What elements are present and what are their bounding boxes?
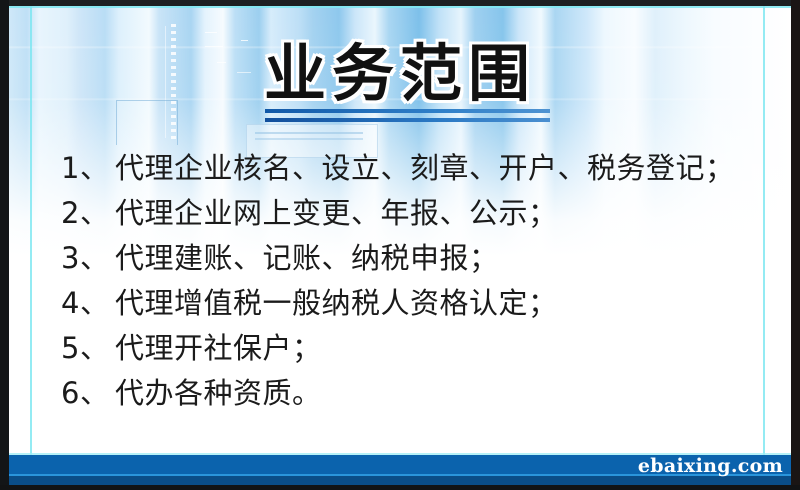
frame-border-right <box>791 0 800 490</box>
list-item-text: 代理企业核名、设立、刻章、开户、税务登记； <box>115 146 735 191</box>
list-item-number: 4、 <box>61 281 115 326</box>
service-list: 1、 代理企业核名、设立、刻章、开户、税务登记； 2、 代理企业网上变更、年报、… <box>61 146 781 416</box>
list-item-text: 代理增值税一般纳税人资格认定； <box>115 281 558 326</box>
guide-line-top <box>9 6 791 8</box>
frame-border-bottom <box>0 485 800 490</box>
list-item-number: 6、 <box>61 371 115 416</box>
title-underline-secondary <box>265 118 550 122</box>
list-item: 4、 代理增值税一般纳税人资格认定； <box>61 281 781 326</box>
list-item-number: 5、 <box>61 326 115 371</box>
list-item-number: 1、 <box>61 146 115 191</box>
frame-border-left <box>0 0 9 490</box>
list-item: 2、 代理企业网上变更、年报、公示； <box>61 191 781 236</box>
background-panel-lines <box>255 132 363 146</box>
list-item-number: 2、 <box>61 191 115 236</box>
page-title: 业务范围 <box>9 40 791 108</box>
title-underline-primary <box>265 109 550 113</box>
list-item: 1、 代理企业核名、设立、刻章、开户、税务登记； <box>61 146 781 191</box>
list-item-text: 代办各种资质。 <box>115 371 322 416</box>
list-item-text: 代理建账、记账、纳税申报； <box>115 236 499 281</box>
background-tick-mark <box>205 32 217 33</box>
list-item: 3、 代理建账、记账、纳税申报； <box>61 236 781 281</box>
list-item: 6、 代办各种资质。 <box>61 371 781 416</box>
list-item-text: 代理企业网上变更、年报、公示； <box>115 191 558 236</box>
list-item-text: 代理开社保户； <box>115 326 322 371</box>
poster-canvas: 业务范围 1、 代理企业核名、设立、刻章、开户、税务登记； 2、 代理企业网上变… <box>9 6 791 485</box>
poster-stage: 业务范围 1、 代理企业核名、设立、刻章、开户、税务登记； 2、 代理企业网上变… <box>0 0 800 490</box>
list-item-number: 3、 <box>61 236 115 281</box>
footer-dark-strip <box>9 476 791 485</box>
watermark-text: ebaixing.com <box>638 455 783 477</box>
list-item: 5、 代理开社保户； <box>61 326 781 371</box>
